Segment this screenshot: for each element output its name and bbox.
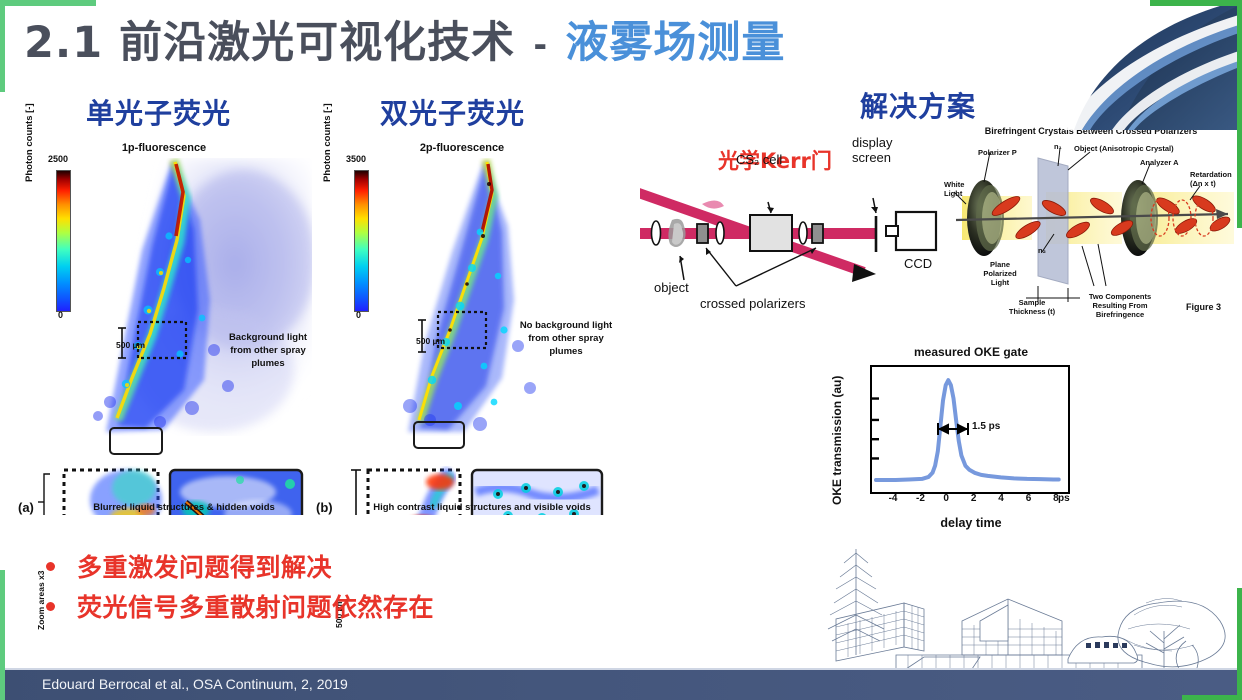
green-accent-top-left-v — [0, 0, 5, 92]
figure-b-caption: High contrast liquid structures and visi… — [356, 502, 608, 513]
label-ccd: CCD — [904, 256, 932, 271]
label-sample-thickness: Sample Thickness (t) — [1004, 298, 1060, 316]
heading-one-photon: 单光子荧光 — [86, 92, 231, 132]
figure-b-letter: (b) — [316, 500, 333, 515]
label-crossed-polarizers: crossed polarizers — [700, 296, 806, 311]
figure-a-zoom-label: Zoom areas x3 — [36, 570, 46, 630]
label-object: object — [654, 280, 689, 295]
slide-footer: Edouard Berrocal et al., OSA Continuum, … — [0, 670, 1242, 700]
figure-a-spray-plot — [14, 140, 314, 515]
bullet-list: 多重激发问题得到解决 荧光信号多重散射问题依然存在 — [46, 548, 434, 628]
label-polarizer-p: Polarizer P — [978, 148, 1017, 157]
figure-b-background-note: No background light from other spray plu… — [518, 320, 614, 358]
bullet-dot-icon — [46, 562, 55, 571]
chart-line-svg — [872, 367, 1064, 488]
chart-x-unit: ps — [1058, 493, 1070, 504]
label-retardation: Retardation (Δn x t) — [1190, 170, 1238, 188]
page-title: 2.1 前沿激光可视化技术 - 液雾场测量 — [24, 8, 785, 70]
chart-x-tick: 0 — [943, 493, 949, 504]
figure-birefringent-crystals: Birefringent Crystals Between Crossed Po… — [942, 126, 1240, 322]
list-item: 多重激发问题得到解决 — [46, 548, 434, 584]
chart-x-tick: -2 — [916, 493, 925, 504]
label-display-screen: display screen — [852, 136, 914, 166]
header-swoosh-decoration — [942, 0, 1242, 130]
chart-measured-oke-gate: measured OKE gate OKE transmission (au) … — [826, 345, 1076, 530]
label-n2: n₂ — [1038, 246, 1046, 255]
label-white-light: White Light — [944, 180, 976, 198]
chart-x-tick: 4 — [998, 493, 1004, 504]
slide-canvas: 2.1 前沿激光可视化技术 - 液雾场测量 单光子荧光 双光子荧光 解决方案 光… — [0, 0, 1242, 700]
label-cs2-cell: CS₂ cell — [736, 152, 782, 167]
green-accent-bottom-right-v — [1237, 588, 1242, 700]
figure-b-scale-label: 500 µm — [416, 336, 445, 346]
chart-fwhm-annotation: 1.5 ps — [972, 421, 1000, 432]
label-analyzer-a: Analyzer A — [1140, 158, 1179, 167]
chart-x-tick: -4 — [889, 493, 898, 504]
bullet-text-1: 多重激发问题得到解决 — [77, 548, 332, 584]
green-accent-bottom-right-h — [1182, 695, 1242, 700]
page-title-main: 2.1 前沿激光可视化技术 — [24, 18, 515, 68]
heading-two-photon: 双光子荧光 — [380, 92, 525, 132]
figure-optical-kerr-gate-setup: CS₂ cell display screen CCD object cross… — [640, 168, 960, 318]
page-title-dash: - — [520, 22, 561, 66]
label-plane-polarized-light: Plane Polarized Light — [978, 260, 1022, 287]
green-accent-top-right-h — [1150, 0, 1242, 6]
figure-a-letter: (a) — [18, 500, 34, 515]
figure-a-background-note: Background light from other spray plumes — [220, 332, 316, 370]
footer-citation: Edouard Berrocal et al., OSA Continuum, … — [42, 676, 348, 692]
bullet-text-2: 荧光信号多重散射问题依然存在 — [77, 588, 434, 624]
figure-1p-fluorescence: 1p-fluorescence 2500 0 Photon counts [-] — [14, 140, 314, 515]
label-two-components: Two Components Resulting From Birefringe… — [1078, 292, 1162, 319]
chart-y-axis-label: OKE transmission (au) — [830, 376, 844, 505]
slide-header: 2.1 前沿激光可视化技术 - 液雾场测量 — [0, 0, 1242, 92]
figure-2p-fluorescence: 2p-fluorescence 3500 0 Photon counts [-] — [312, 140, 612, 515]
label-figure-number: Figure 3 — [1186, 302, 1221, 313]
chart-x-tick: 2 — [971, 493, 977, 504]
green-accent-top-left-h — [0, 0, 96, 6]
figure-a-scale-label: 500 µm — [116, 340, 145, 350]
label-n1: n₁ — [1054, 142, 1062, 151]
green-accent-bottom-left-v — [0, 570, 5, 700]
campus-illustration — [812, 543, 1232, 678]
chart-plot-area — [870, 365, 1070, 494]
label-object-anisotropic-crystal: Object (Anisotropic Crystal) — [1074, 144, 1184, 153]
list-item: 荧光信号多重散射问题依然存在 — [46, 588, 434, 624]
green-accent-top-right-v — [1237, 0, 1242, 228]
chart-title: measured OKE gate — [866, 345, 1076, 359]
figure-a-caption: Blurred liquid structures & hidden voids — [58, 502, 310, 513]
chart-x-tick: 6 — [1026, 493, 1032, 504]
chart-x-axis-label: delay time — [866, 516, 1076, 530]
bullet-dot-icon — [46, 602, 55, 611]
page-title-accent: 液雾场测量 — [565, 18, 785, 68]
